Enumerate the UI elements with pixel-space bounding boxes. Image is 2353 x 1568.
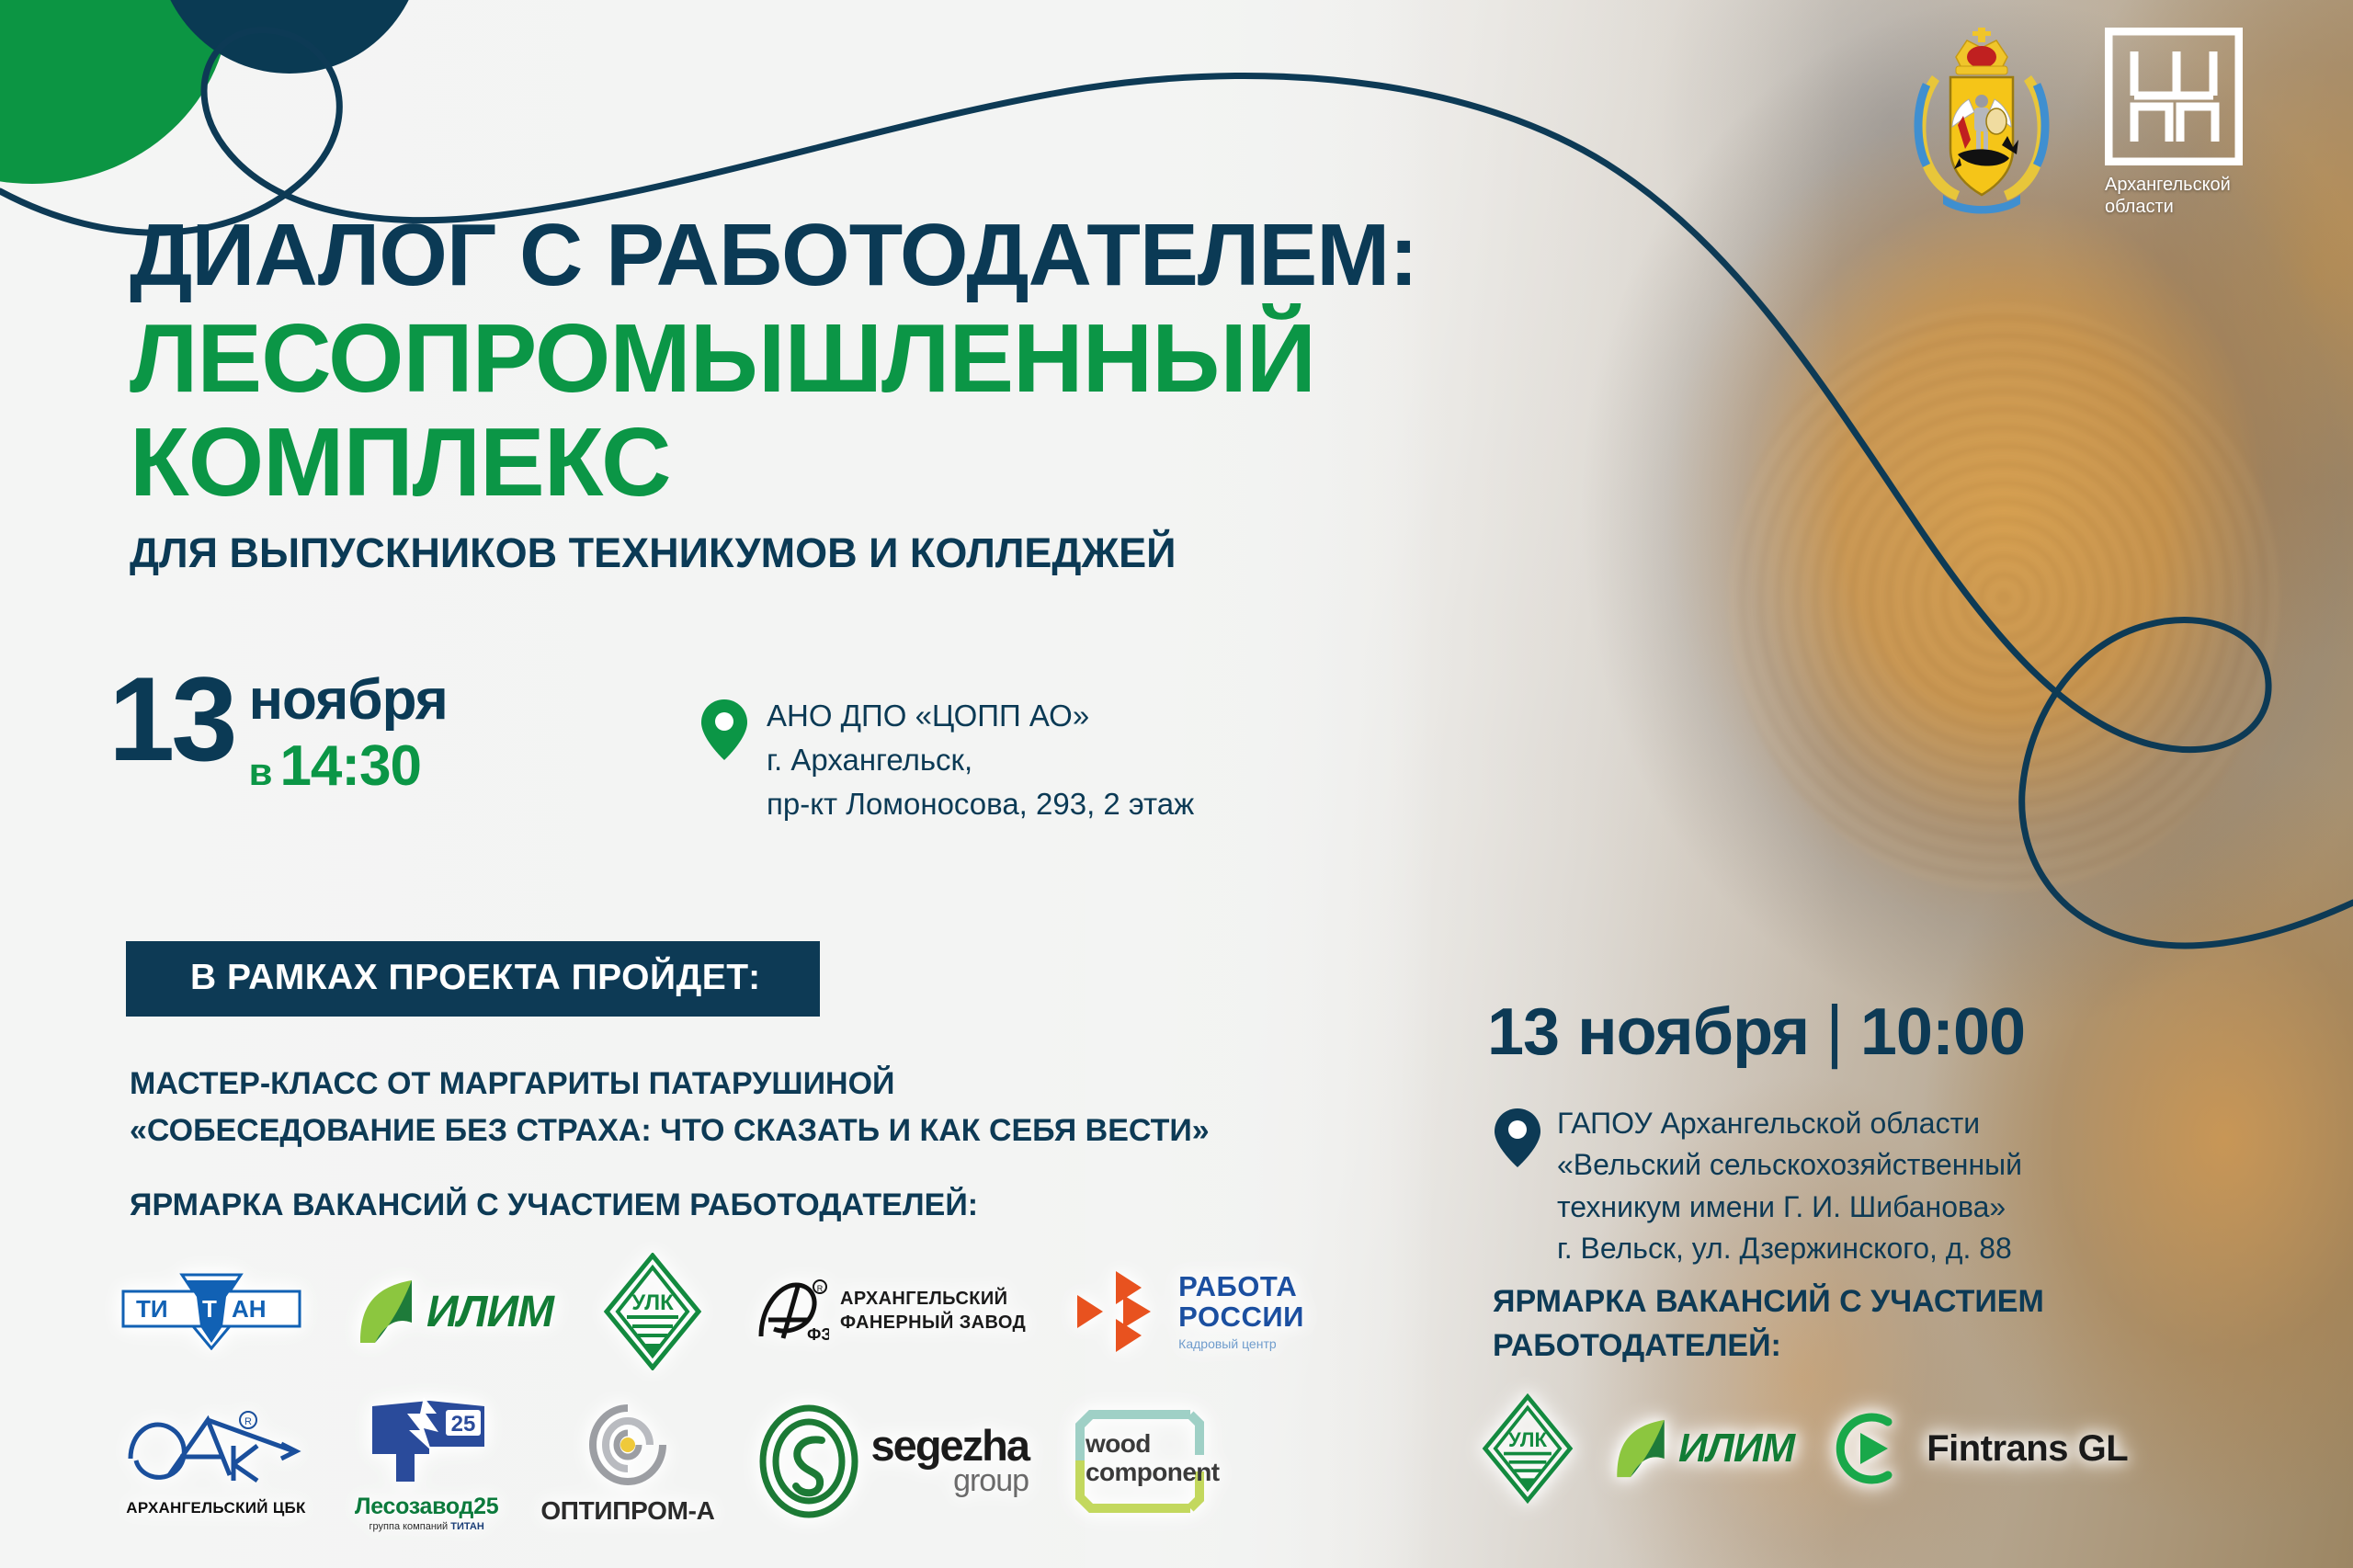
copp-caption-line1: Архангельской [2105,175,2279,197]
copp-mark-icon [2105,28,2243,165]
velsk-venue-line4: г. Вельск, ул. Дзержинского, д. 88 [1557,1228,2022,1269]
svg-text:Т: Т [202,1295,217,1323]
event-velsk-address: ГАПОУ Архангельской области «Вельский се… [1493,1103,2022,1270]
title-subtitle: ДЛЯ ВЫПУСКНИКОВ ТЕХНИКУМОВ И КОЛЛЕДЖЕЙ [130,529,1674,577]
acbk-mark-icon: R [119,1405,313,1494]
ilim-wordmark: ИЛИМ [1678,1426,1794,1471]
velsk-separator: | [1825,991,1844,1071]
venue-name: АНО ДПО «ЦОПП АО» [767,694,1194,738]
event-velsk-date: 13 ноября | 10:00 [1487,991,2025,1071]
ilim-leaf-icon [353,1275,419,1348]
fintrans-mark-icon [1831,1407,1914,1490]
coat-of-arms-logo [1899,20,2064,222]
partner-logo-rabota-rossii: РАБОТА РОССИИ Кадровый центр [1075,1267,1304,1356]
rabota-rossii-line2: РОССИИ [1178,1302,1304,1333]
velsk-month: ноября [1577,994,1809,1070]
event-month: ноября [249,672,448,729]
event-time-prefix: в [249,750,273,794]
partner-logo-titan: ТИ АН Т [119,1273,303,1350]
rabota-rossii-tagline: Кадровый центр [1178,1336,1304,1351]
svg-text:УЛК: УЛК [1508,1428,1548,1451]
partner-logo-ilim: ИЛИМ [1610,1415,1794,1483]
partner-logo-ulk: УЛК [603,1257,702,1366]
svg-text:АН: АН [232,1295,267,1323]
venue-street: пр-кт Ломоносова, 293, 2 этаж [767,782,1194,826]
event-time: 14:30 [279,738,421,795]
program-item-job-fair: ЯРМАРКА ВАКАНСИЙ С УЧАСТИЕМ РАБОТОДАТЕЛЕ… [130,1187,978,1223]
partner-logo-segezha: segezha group [757,1403,1029,1519]
velsk-venue-line3: техникум имени Г. И. Шибанова» [1557,1187,2022,1228]
velsk-fair-line2: РАБОТОДАТЕЛЕЙ: [1493,1324,2044,1368]
program-banner: В РАМКАХ ПРОЕКТА ПРОЙДЕТ: [126,941,820,1017]
svg-text:25: 25 [451,1412,476,1437]
title-line-2: ЛЕСОПРОМЫШЛЕННЫЙ [130,308,1674,410]
afz-name-line1: АРХАНГЕЛЬСКИЙ [840,1288,1026,1312]
rabota-rossii-mark-icon [1075,1267,1164,1356]
copp-logo: Архангельской области [2105,28,2279,225]
velsk-job-fair-label: ЯРМАРКА ВАКАНСИЙ С УЧАСТИЕМ РАБОТОДАТЕЛЕ… [1493,1279,2044,1369]
wood-component-line1: wood [1086,1429,1219,1458]
svg-text:ФЗ: ФЗ [807,1325,829,1344]
location-pin-icon [699,698,750,767]
svg-text:ТИ: ТИ [136,1295,168,1323]
event-archangelsk-date: 13 ноября в 14:30 [108,666,448,795]
partner-logo-lesozavod25: 25 Лесозавод25 группа компаний ТИТАН [355,1390,498,1532]
partner-logo-ilim: ИЛИМ [353,1275,553,1348]
location-pin-icon [1493,1107,1542,1174]
velsk-venue-line1: ГАПОУ Архангельской области [1557,1103,2022,1144]
lesozavod25-caption: Лесозавод25 [355,1494,498,1520]
svg-text:УЛК: УЛК [631,1290,674,1315]
fintrans-wordmark: Fintrans GL [1927,1428,2128,1470]
ilim-leaf-icon [1610,1415,1671,1483]
optiprom-caption: ОПТИПРОМ-А [540,1496,714,1526]
afz-name-line2: ФАНЕРНЫЙ ЗАВОД [840,1312,1026,1335]
segezha-subword: group [871,1465,1029,1496]
lesozavod25-tagline: группа компаний [369,1521,451,1532]
poster-title: ДИАЛОГ С РАБОТОДАТЕЛЕМ: ЛЕСОПРОМЫШЛЕННЫЙ… [130,211,1674,577]
poster-root: Архангельской области ДИАЛОГ С РАБОТОДАТ… [0,0,2353,1568]
svg-text:R: R [244,1416,252,1427]
partner-logo-wood-component: wood component [1071,1407,1209,1516]
partner-logo-ulk: УЛК [1482,1393,1574,1504]
program-item-masterclass-line2: «СОБЕСЕДОВАНИЕ БЕЗ СТРАХА: ЧТО СКАЗАТЬ И… [130,1108,1210,1154]
velsk-venue-line2: «Вельский сельскохозяйственный [1557,1144,2022,1186]
optiprom-spiral-icon [580,1397,676,1493]
event-archangelsk-address: АНО ДПО «ЦОПП АО» г. Архангельск, пр-кт … [699,694,1194,826]
partner-logos-row-2: R АРХАНГЕЛЬСКИЙ ЦБК 25 Лесозавод25 групп… [119,1390,1209,1532]
program-items: МАСТЕР-КЛАСС ОТ МАРГАРИТЫ ПАТАРУШИНОЙ «С… [130,1061,1210,1154]
partner-logos-row-3: УЛК ИЛИМ Fintrans GL [1482,1393,2128,1504]
copp-caption-line2: области [2105,197,2279,219]
lesozavod25-mark-icon: 25 [358,1390,495,1491]
segezha-wordmark: segezha [871,1426,1029,1465]
ilim-wordmark: ИЛИМ [426,1287,553,1337]
partner-logo-optiprom-a: ОПТИПРОМ-А [540,1397,714,1526]
partner-logo-afz: ФЗ R АРХАНГЕЛЬСКИЙ ФАНЕРНЫЙ ЗАВОД [752,1276,1026,1347]
lesozavod25-tagline-brand: ТИТАН [450,1521,484,1532]
partner-logos-row-1: ТИ АН Т ИЛИМ УЛК [119,1257,1304,1366]
afz-monogram-icon: ФЗ R [752,1276,829,1347]
title-line-1: ДИАЛОГ С РАБОТОДАТЕЛЕМ: [130,211,1674,300]
acbk-caption: АРХАНГЕЛЬСКИЙ ЦБК [126,1499,306,1517]
venue-city: г. Архангельск, [767,738,1194,782]
velsk-day: 13 [1487,994,1559,1070]
velsk-fair-line1: ЯРМАРКА ВАКАНСИЙ С УЧАСТИЕМ [1493,1279,2044,1324]
svg-text:R: R [817,1284,824,1293]
event-day-number: 13 [108,666,234,771]
velsk-time: 10:00 [1860,994,2025,1070]
wood-component-line2: component [1086,1458,1219,1486]
rabota-rossii-line1: РАБОТА [1178,1272,1304,1302]
partner-logo-fintrans-gl: Fintrans GL [1831,1407,2128,1490]
program-item-masterclass-line1: МАСТЕР-КЛАСС ОТ МАРГАРИТЫ ПАТАРУШИНОЙ [130,1061,1210,1108]
segezha-mark-icon [757,1403,860,1519]
program-banner-label: В РАМКАХ ПРОЕКТА ПРОЙДЕТ: [190,958,761,997]
copp-caption: Архангельской области [2105,175,2279,218]
partner-logo-acbk: R АРХАНГЕЛЬСКИЙ ЦБК [119,1405,313,1517]
title-line-3: КОМПЛЕКС [130,412,1674,514]
